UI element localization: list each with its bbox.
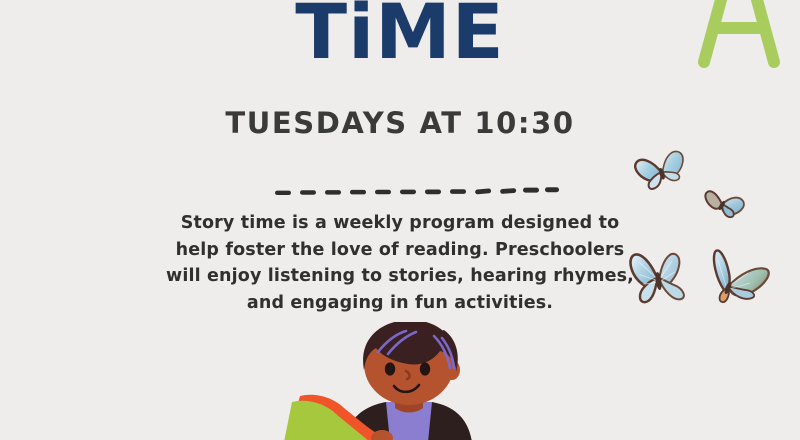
butterfly-icon xyxy=(628,246,690,312)
child-reading-illustration xyxy=(282,322,512,440)
poster-canvas: TiME TUESDAYS AT 10:30 Story time is a w… xyxy=(0,0,800,440)
butterfly-icon xyxy=(632,148,690,196)
description-line: help foster the love of reading. Prescho… xyxy=(150,237,650,264)
poster-subtitle: TUESDAYS AT 10:30 xyxy=(0,105,800,141)
description-line: and engaging in fun activities. xyxy=(150,290,650,317)
butterfly-icon xyxy=(700,185,748,225)
description-line: will enjoy listening to stories, hearing… xyxy=(150,263,650,290)
poster-title: TiME xyxy=(0,0,800,78)
poster-description: Story time is a weekly program designed … xyxy=(150,210,650,316)
description-line: Story time is a weekly program designed … xyxy=(150,210,650,237)
butterfly-icon xyxy=(704,246,774,306)
dashed-divider xyxy=(273,183,559,199)
